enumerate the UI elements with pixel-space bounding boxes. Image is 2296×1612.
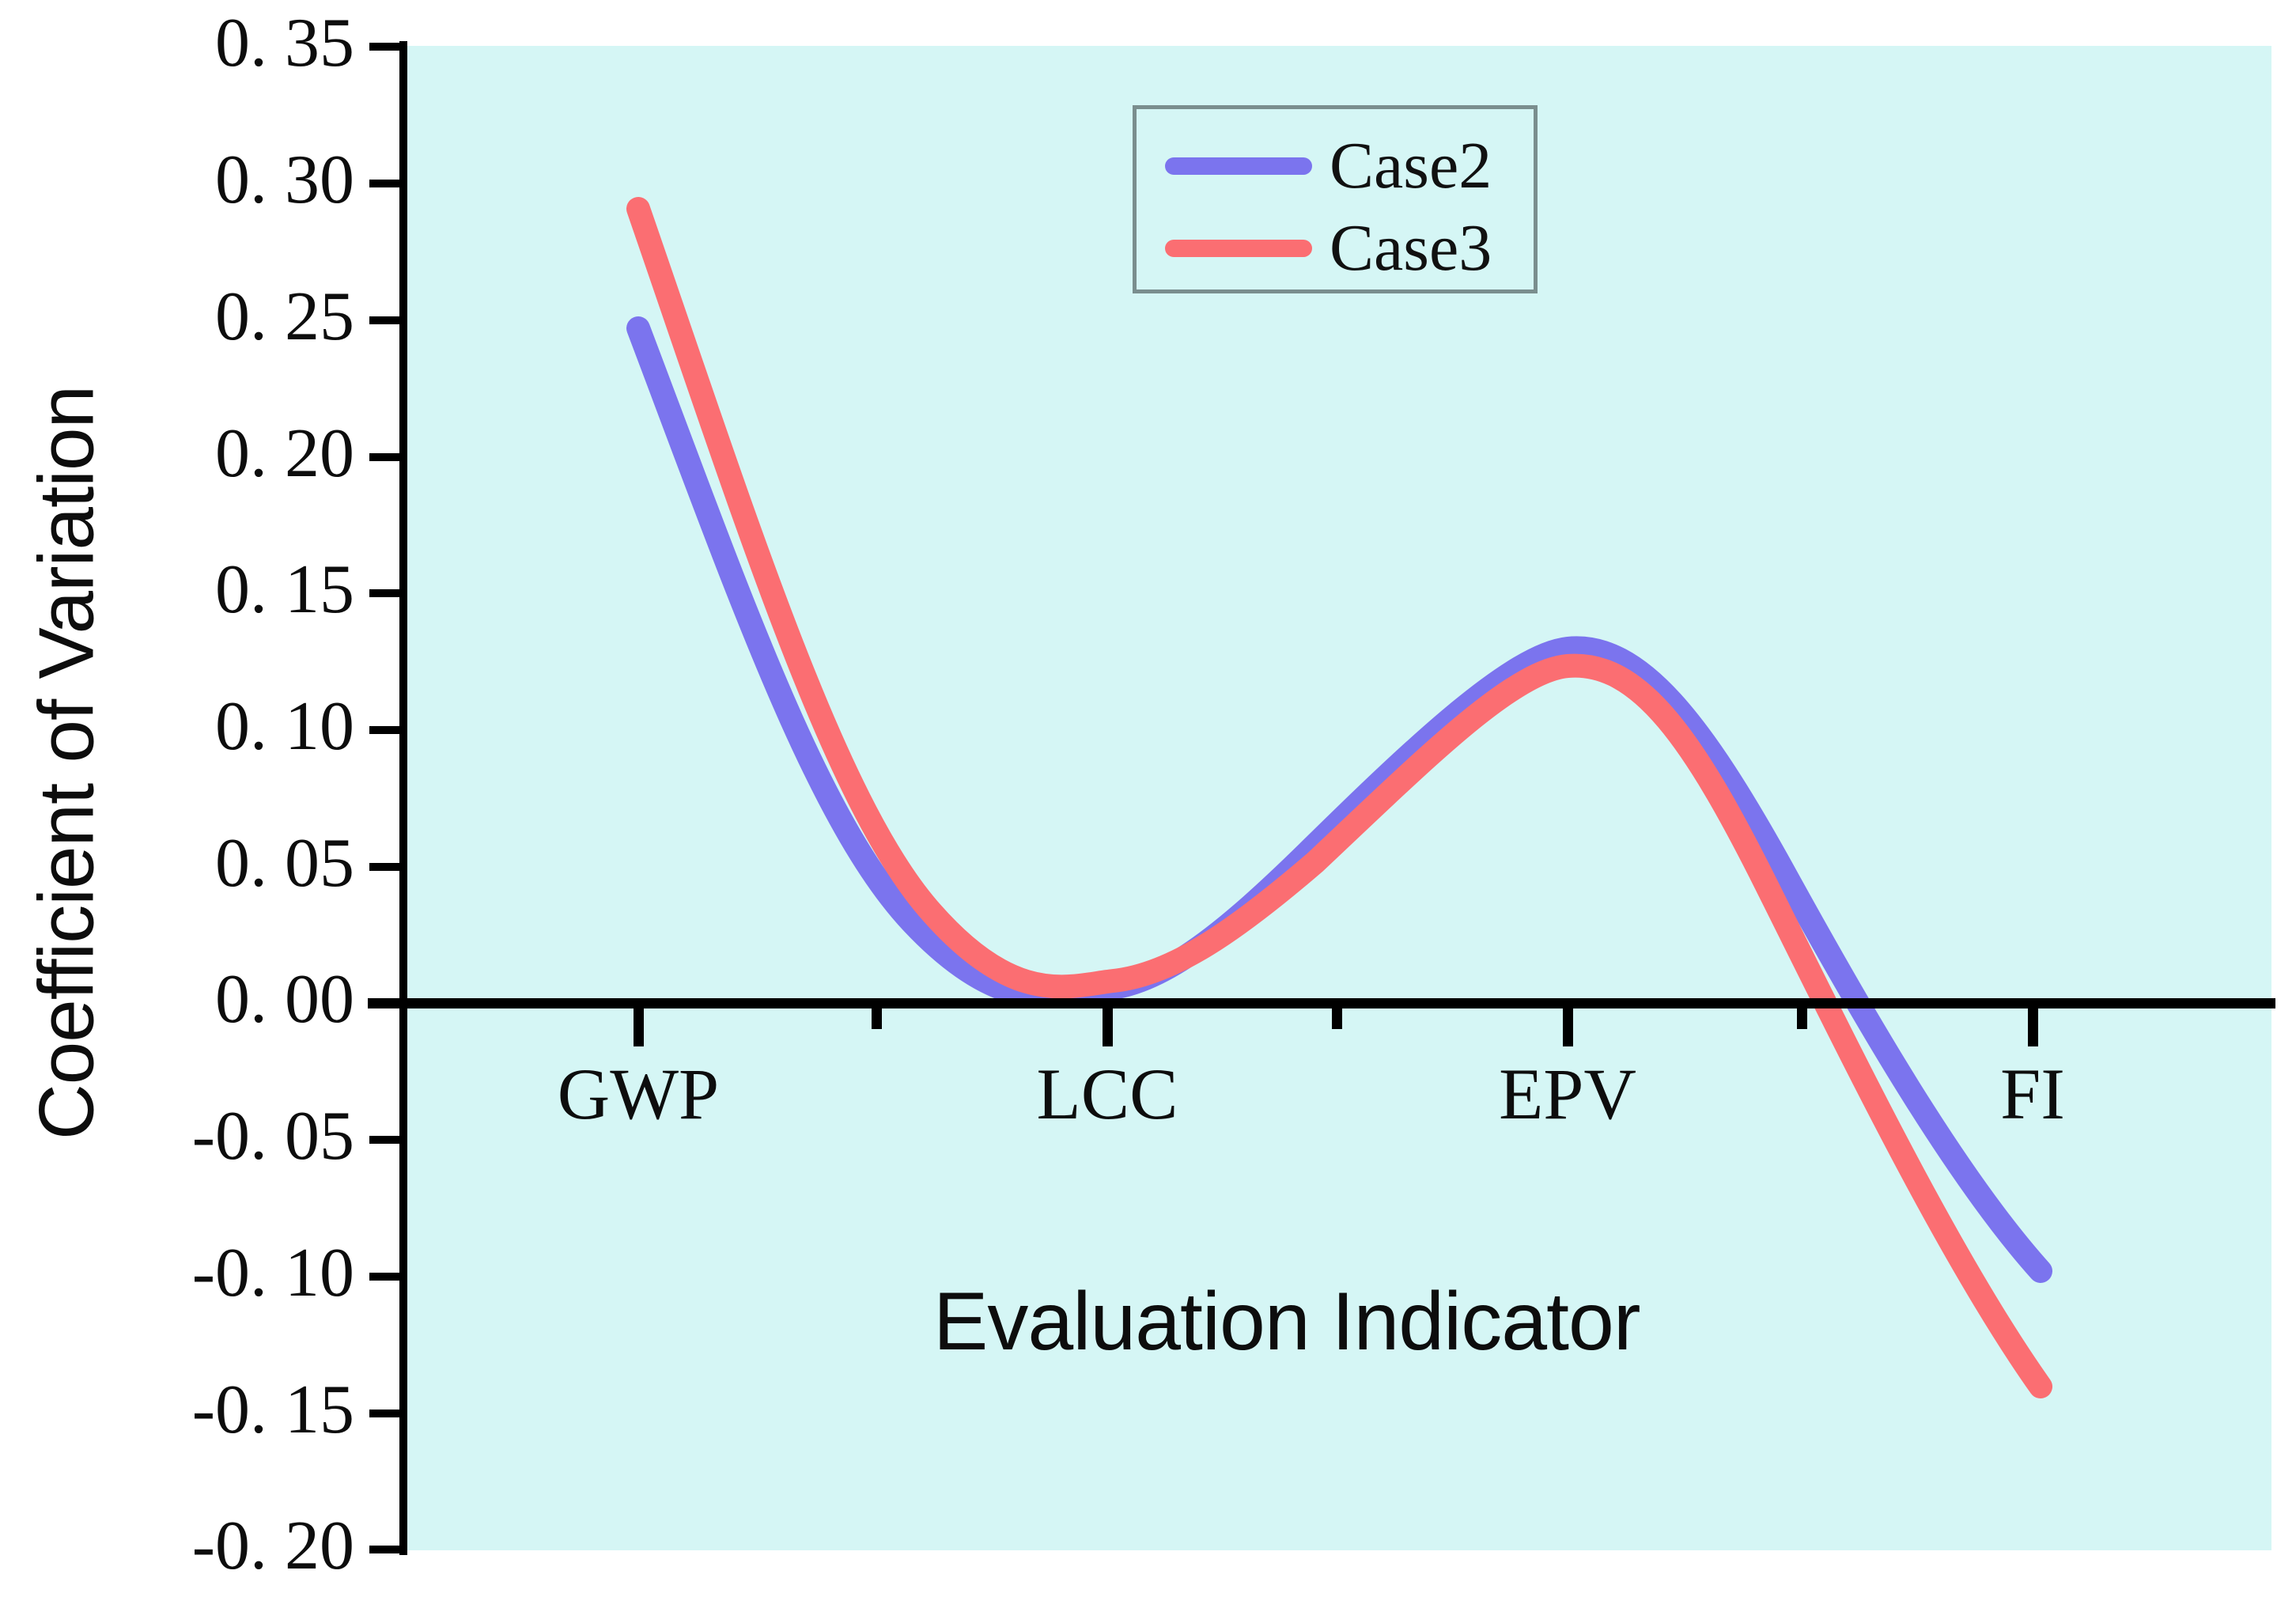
- y-tick-label: -0. 20: [192, 1506, 354, 1586]
- y-tick-mark: [369, 726, 406, 734]
- y-tick-mark: [369, 1410, 406, 1417]
- y-tick-label: 0. 00: [215, 959, 354, 1039]
- y-tick-mark: [369, 43, 406, 51]
- legend-swatch-case2: [1165, 157, 1312, 175]
- y-axis-title: Coefficient of Variation: [22, 241, 112, 1285]
- x-tick-mark-lcc: [1103, 1008, 1113, 1046]
- y-tick-label: 0. 25: [215, 277, 354, 357]
- y-tick-label: 0. 30: [215, 140, 354, 220]
- x-tick-mark-gwp: [634, 1008, 644, 1046]
- x-axis-title: Evaluation Indicator: [933, 1275, 1640, 1369]
- legend-label-case3: Case3: [1330, 215, 1492, 282]
- y-tick-label: 0. 10: [215, 687, 354, 766]
- x-axis-spine: [368, 998, 2275, 1008]
- legend-swatch-case3: [1165, 240, 1312, 257]
- y-tick-mark: [369, 180, 406, 187]
- y-axis-spine: [399, 41, 407, 1555]
- y-tick-mark: [369, 589, 406, 597]
- x-tick-label-lcc: LCC: [1037, 1052, 1178, 1136]
- y-tick-mark: [369, 863, 406, 871]
- x-tick-label-fi: FI: [2000, 1052, 2065, 1136]
- series-line-case3: [638, 209, 2041, 1387]
- x-minor-tick-mark: [1797, 1008, 1807, 1029]
- y-tick-mark: [369, 1273, 406, 1281]
- y-tick-label: 0. 15: [215, 550, 354, 630]
- y-tick-mark: [369, 316, 406, 324]
- y-tick-mark: [369, 1546, 406, 1553]
- y-tick-label: -0. 15: [192, 1370, 354, 1450]
- x-minor-tick-mark: [1332, 1008, 1342, 1029]
- y-tick-label: -0. 10: [192, 1233, 354, 1313]
- x-tick-label-gwp: GWP: [558, 1052, 719, 1136]
- y-tick-mark: [369, 1136, 406, 1144]
- y-tick-label: 0. 35: [215, 3, 354, 83]
- y-tick-label: 0. 05: [215, 823, 354, 903]
- y-tick-mark: [369, 453, 406, 461]
- y-tick-label: 0. 20: [215, 414, 354, 494]
- x-minor-tick-mark: [872, 1008, 882, 1029]
- x-tick-mark-fi: [2028, 1008, 2038, 1046]
- y-tick-label: -0. 05: [192, 1096, 354, 1176]
- x-tick-label-epv: EPV: [1499, 1052, 1636, 1136]
- y-tick-mark: [369, 999, 406, 1007]
- legend-label-case2: Case2: [1330, 133, 1492, 199]
- legend: Case2 Case3: [1133, 105, 1538, 293]
- legend-entry-case2[interactable]: Case2: [1137, 128, 1534, 204]
- x-tick-mark-epv: [1563, 1008, 1573, 1046]
- legend-entry-case3[interactable]: Case3: [1137, 210, 1534, 286]
- chart-figure: 0. 35 0. 30 0. 25 0. 20 0. 15 0. 10 0. 0…: [0, 0, 2296, 1612]
